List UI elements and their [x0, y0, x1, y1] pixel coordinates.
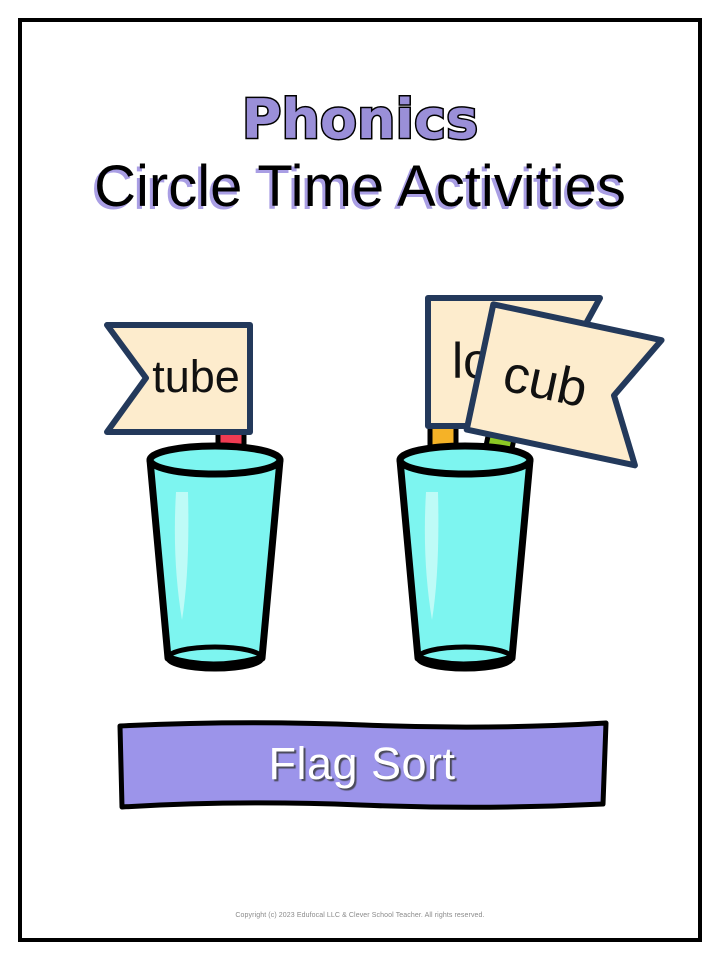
page-title: Phonics	[0, 92, 720, 149]
banner-label: Flag Sort	[112, 714, 612, 814]
right-cup-group: lo cub	[400, 298, 662, 669]
page-subtitle: Circle Time Activities	[0, 155, 720, 219]
left-cup-group: tube	[107, 325, 280, 669]
flag-label-tube: tube	[152, 351, 240, 402]
title-block: Phonics Circle Time Activities	[0, 92, 720, 218]
worksheet-cover-page: Phonics Circle Time Activities tube	[0, 0, 720, 960]
cup-right	[400, 446, 530, 669]
illustration-area: tube lo	[0, 280, 720, 680]
activity-banner: Flag Sort	[112, 714, 612, 814]
cup-left	[150, 446, 280, 669]
flag-tube: tube	[107, 325, 250, 432]
copyright-notice: Copyright (c) 2023 Edufocal LLC & Clever…	[0, 912, 720, 919]
